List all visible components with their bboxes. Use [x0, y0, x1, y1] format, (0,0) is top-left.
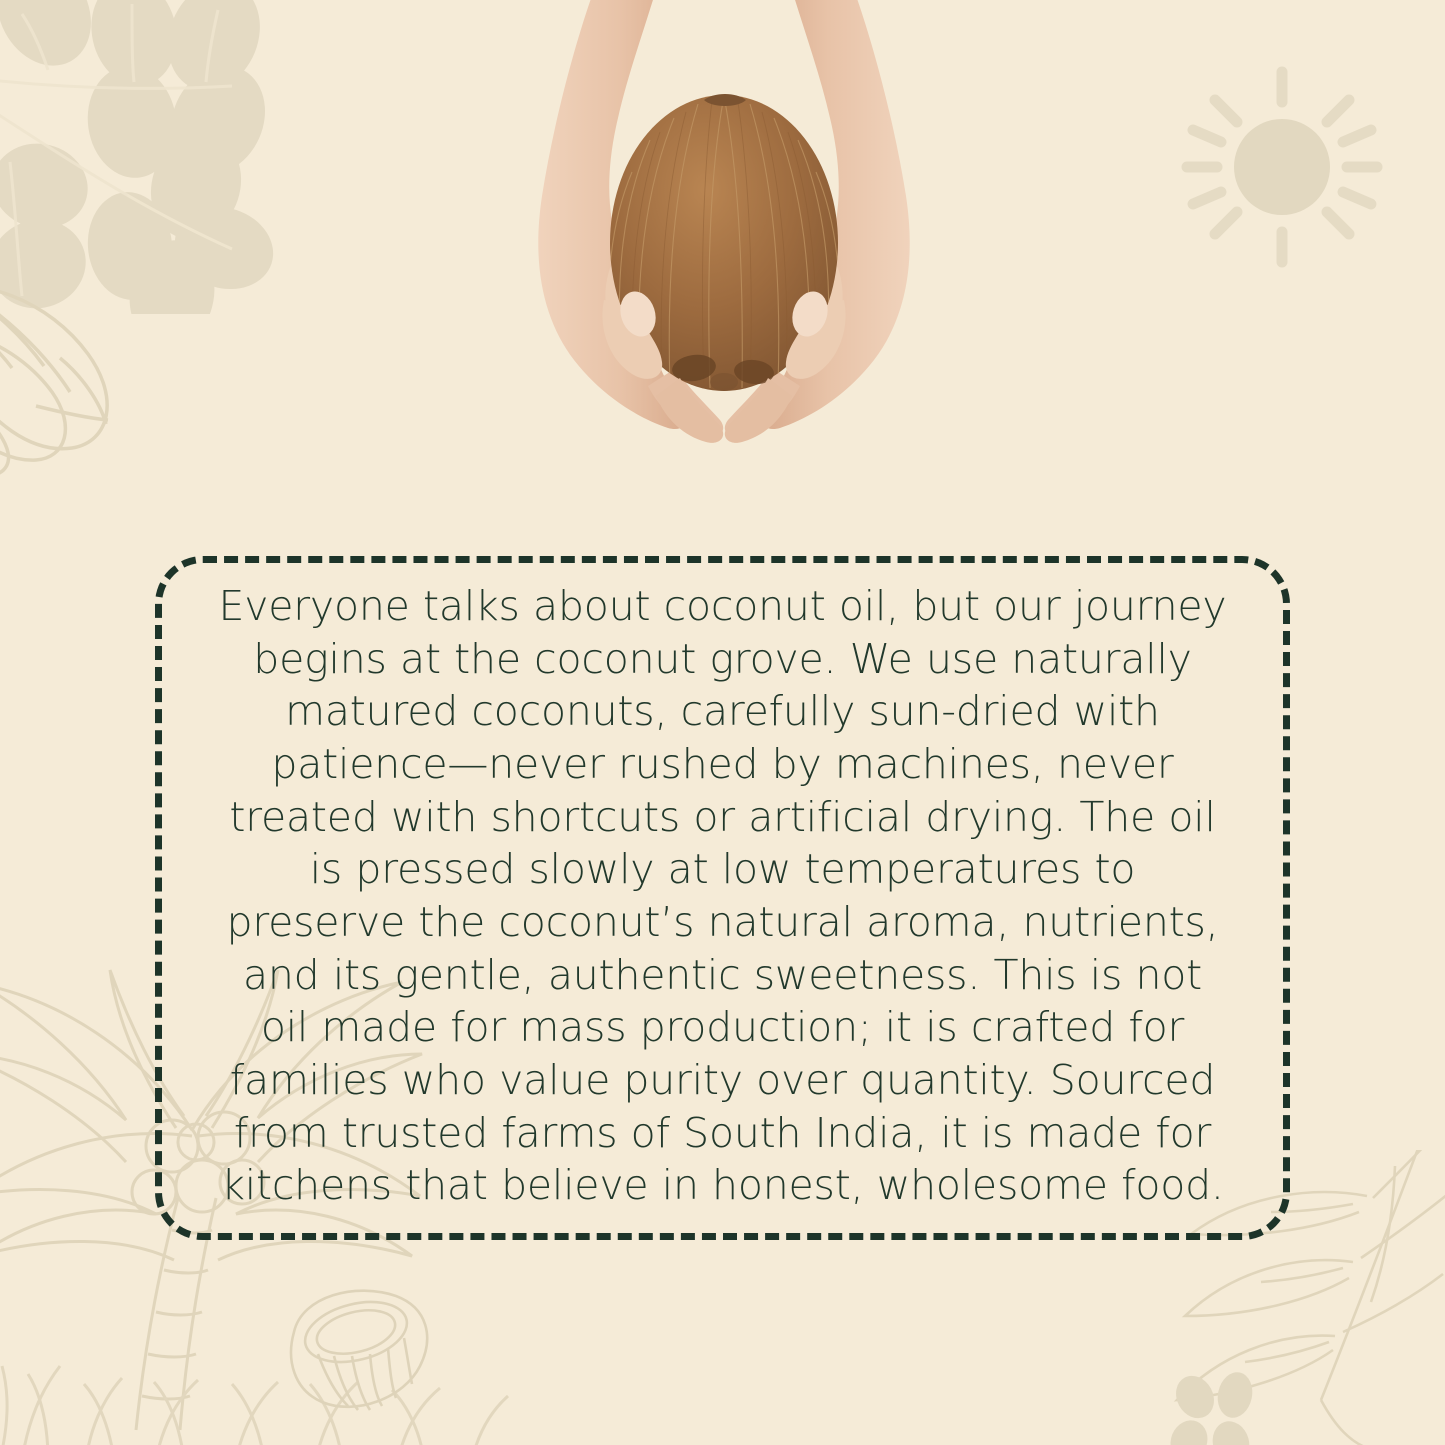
story-paragraph: Everyone talks about coconut oil, but ou…: [217, 580, 1229, 1216]
story-card: Everyone talks about coconut oil, but ou…: [155, 556, 1290, 1240]
leaves-branch-top-left-icon: [0, 0, 312, 314]
peanut-icon: [0, 262, 170, 477]
sun-icon: [1167, 60, 1397, 275]
grass-icon: [0, 1330, 510, 1445]
flower-icon: [1159, 1365, 1269, 1445]
poster-canvas: Everyone talks about coconut oil, but ou…: [0, 0, 1445, 1445]
hands-holding-coconut-photo: [498, 0, 950, 470]
split-coconut-icon: [278, 1280, 438, 1430]
